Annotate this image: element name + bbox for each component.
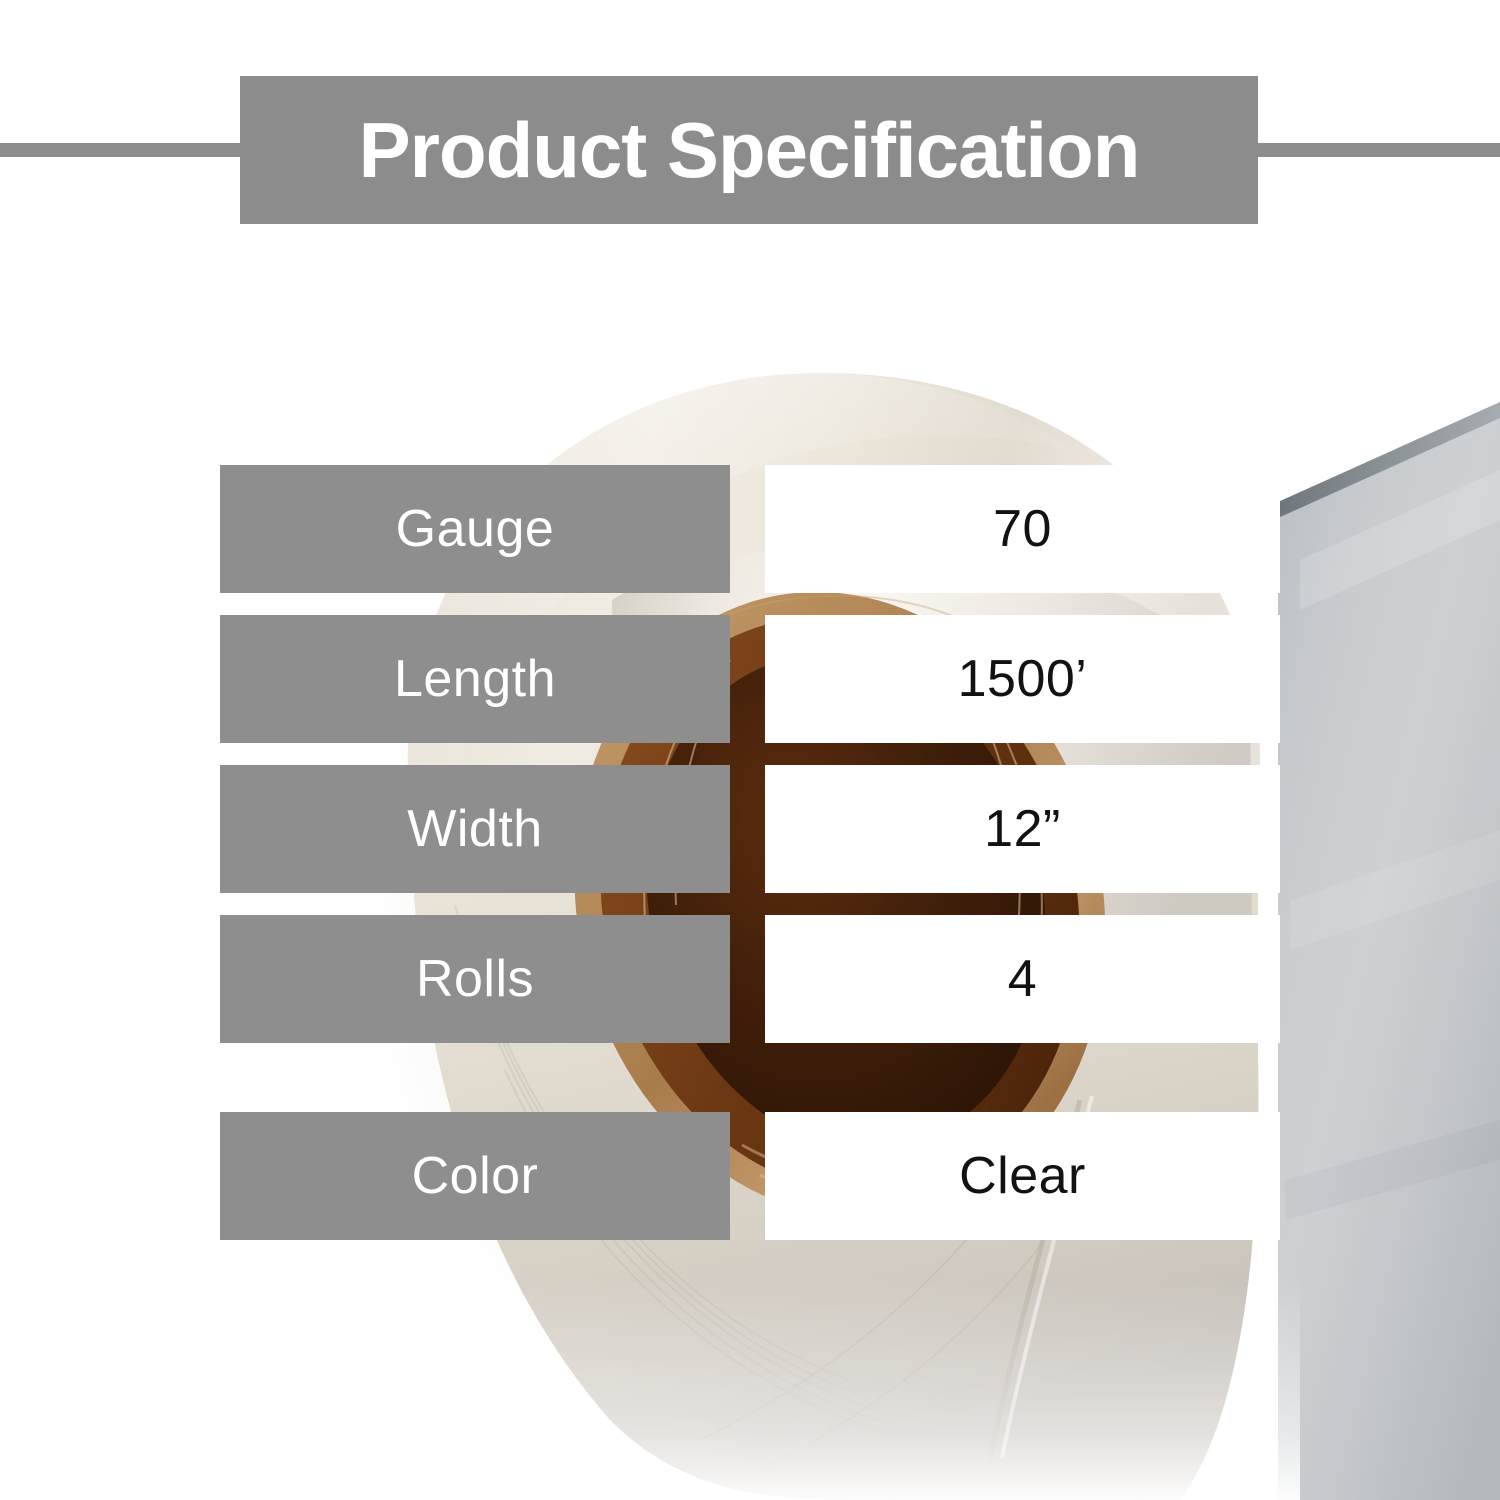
- spec-value-text: Clear: [959, 1150, 1086, 1202]
- spec-value-text: 12”: [984, 803, 1061, 855]
- spec-label-text: Width: [407, 803, 542, 855]
- spec-label-text: Color: [412, 1150, 539, 1202]
- spec-label-cell: Gauge: [220, 465, 730, 593]
- spec-value-cell: Clear: [765, 1112, 1280, 1240]
- table-row: Gauge 70: [0, 465, 1500, 593]
- spec-label-text: Gauge: [396, 503, 555, 555]
- spec-value-cell: 4: [765, 915, 1280, 1043]
- spec-value-text: 1500’: [958, 653, 1088, 705]
- spec-value-text: 70: [993, 503, 1052, 555]
- spec-label-cell: Color: [220, 1112, 730, 1240]
- page-title: Product Specification: [353, 111, 1146, 189]
- spec-label-cell: Width: [220, 765, 730, 893]
- header-banner: Product Specification: [240, 76, 1258, 224]
- header: Product Specification: [0, 0, 1500, 300]
- spec-value-text: 4: [1008, 953, 1037, 1005]
- spec-value-cell: 70: [765, 465, 1280, 593]
- product-specification-card: Product Specification Gauge 70 Length 15…: [0, 0, 1500, 1500]
- table-row: Length 1500’: [0, 615, 1500, 743]
- spec-value-cell: 1500’: [765, 615, 1280, 743]
- spec-label-text: Length: [394, 653, 556, 705]
- spec-value-cell: 12”: [765, 765, 1280, 893]
- table-row: Width 12”: [0, 765, 1500, 893]
- spec-label-cell: Rolls: [220, 915, 730, 1043]
- table-row: Rolls 4: [0, 915, 1500, 1043]
- spec-label-cell: Length: [220, 615, 730, 743]
- table-row: Color Clear: [0, 1112, 1500, 1240]
- spec-label-text: Rolls: [416, 953, 534, 1005]
